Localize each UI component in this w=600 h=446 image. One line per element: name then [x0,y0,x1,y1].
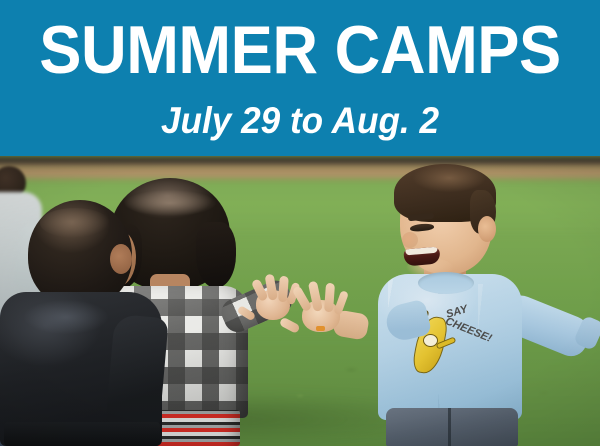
child-black-arm [105,314,169,430]
child-black-shoulder-highlight [24,300,108,334]
summer-camps-poster: SUMMER CAMPS July 29 to Aug. 2 [0,0,600,446]
child-black-hair-shine [40,208,110,238]
boy-ear [478,216,496,242]
boy-sweatshirt-collar [418,272,474,294]
banner-header: SUMMER CAMPS July 29 to Aug. 2 [0,0,600,156]
boy-blue-sweatshirt: SAY CHEESE! [352,170,600,446]
date-range-subtitle: July 29 to Aug. 2 [15,100,585,142]
child-black-hem [4,422,160,446]
child-black-sweatshirt [6,200,156,446]
child-plaid-hair-right [196,222,236,288]
boy-left-reaching-hand [286,284,350,340]
boy-sweatpants-seam [448,408,451,446]
child-black-ear [110,244,132,274]
boy-left-hand-ring [316,326,325,331]
hero-photo: SAY CHEESE! [0,156,600,446]
boy-teeth [405,247,437,256]
boy-nose [402,232,418,248]
boy-sweatpants [386,408,518,446]
page-title: SUMMER CAMPS [21,16,579,84]
